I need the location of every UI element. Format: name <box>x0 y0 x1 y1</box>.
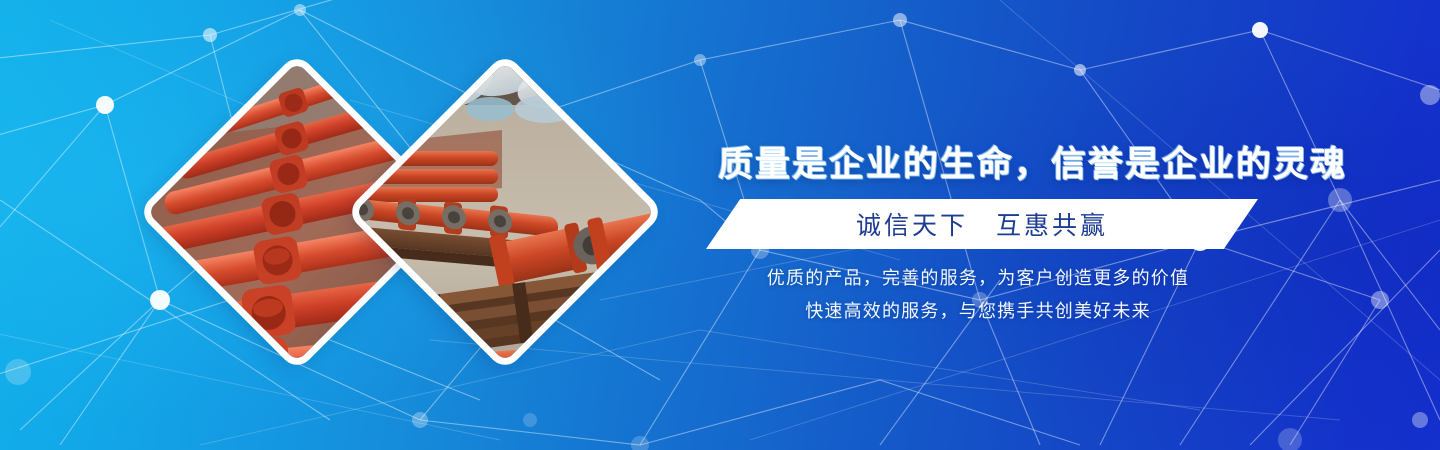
slogan-bar: 诚信天下 互惠共赢 <box>706 199 1258 249</box>
slogan-text: 诚信天下 互惠共赢 <box>706 199 1258 249</box>
subtitle-line-1: 优质的产品，完善的服务，为客户创造更多的价值 <box>698 262 1258 295</box>
promotional-banner: 质量是企业的生命，信誉是企业的灵魂 诚信天下 互惠共赢 优质的产品，完善的服务，… <box>0 0 1440 450</box>
subtitle-line-2: 快速高效的服务，与您携手共创美好未来 <box>698 295 1258 328</box>
subtitle-block: 优质的产品，完善的服务，为客户创造更多的价值 快速高效的服务，与您携手共创美好未… <box>698 262 1258 328</box>
network-node <box>96 96 114 114</box>
headline-text: 质量是企业的生命，信誉是企业的灵魂 <box>718 136 1238 187</box>
